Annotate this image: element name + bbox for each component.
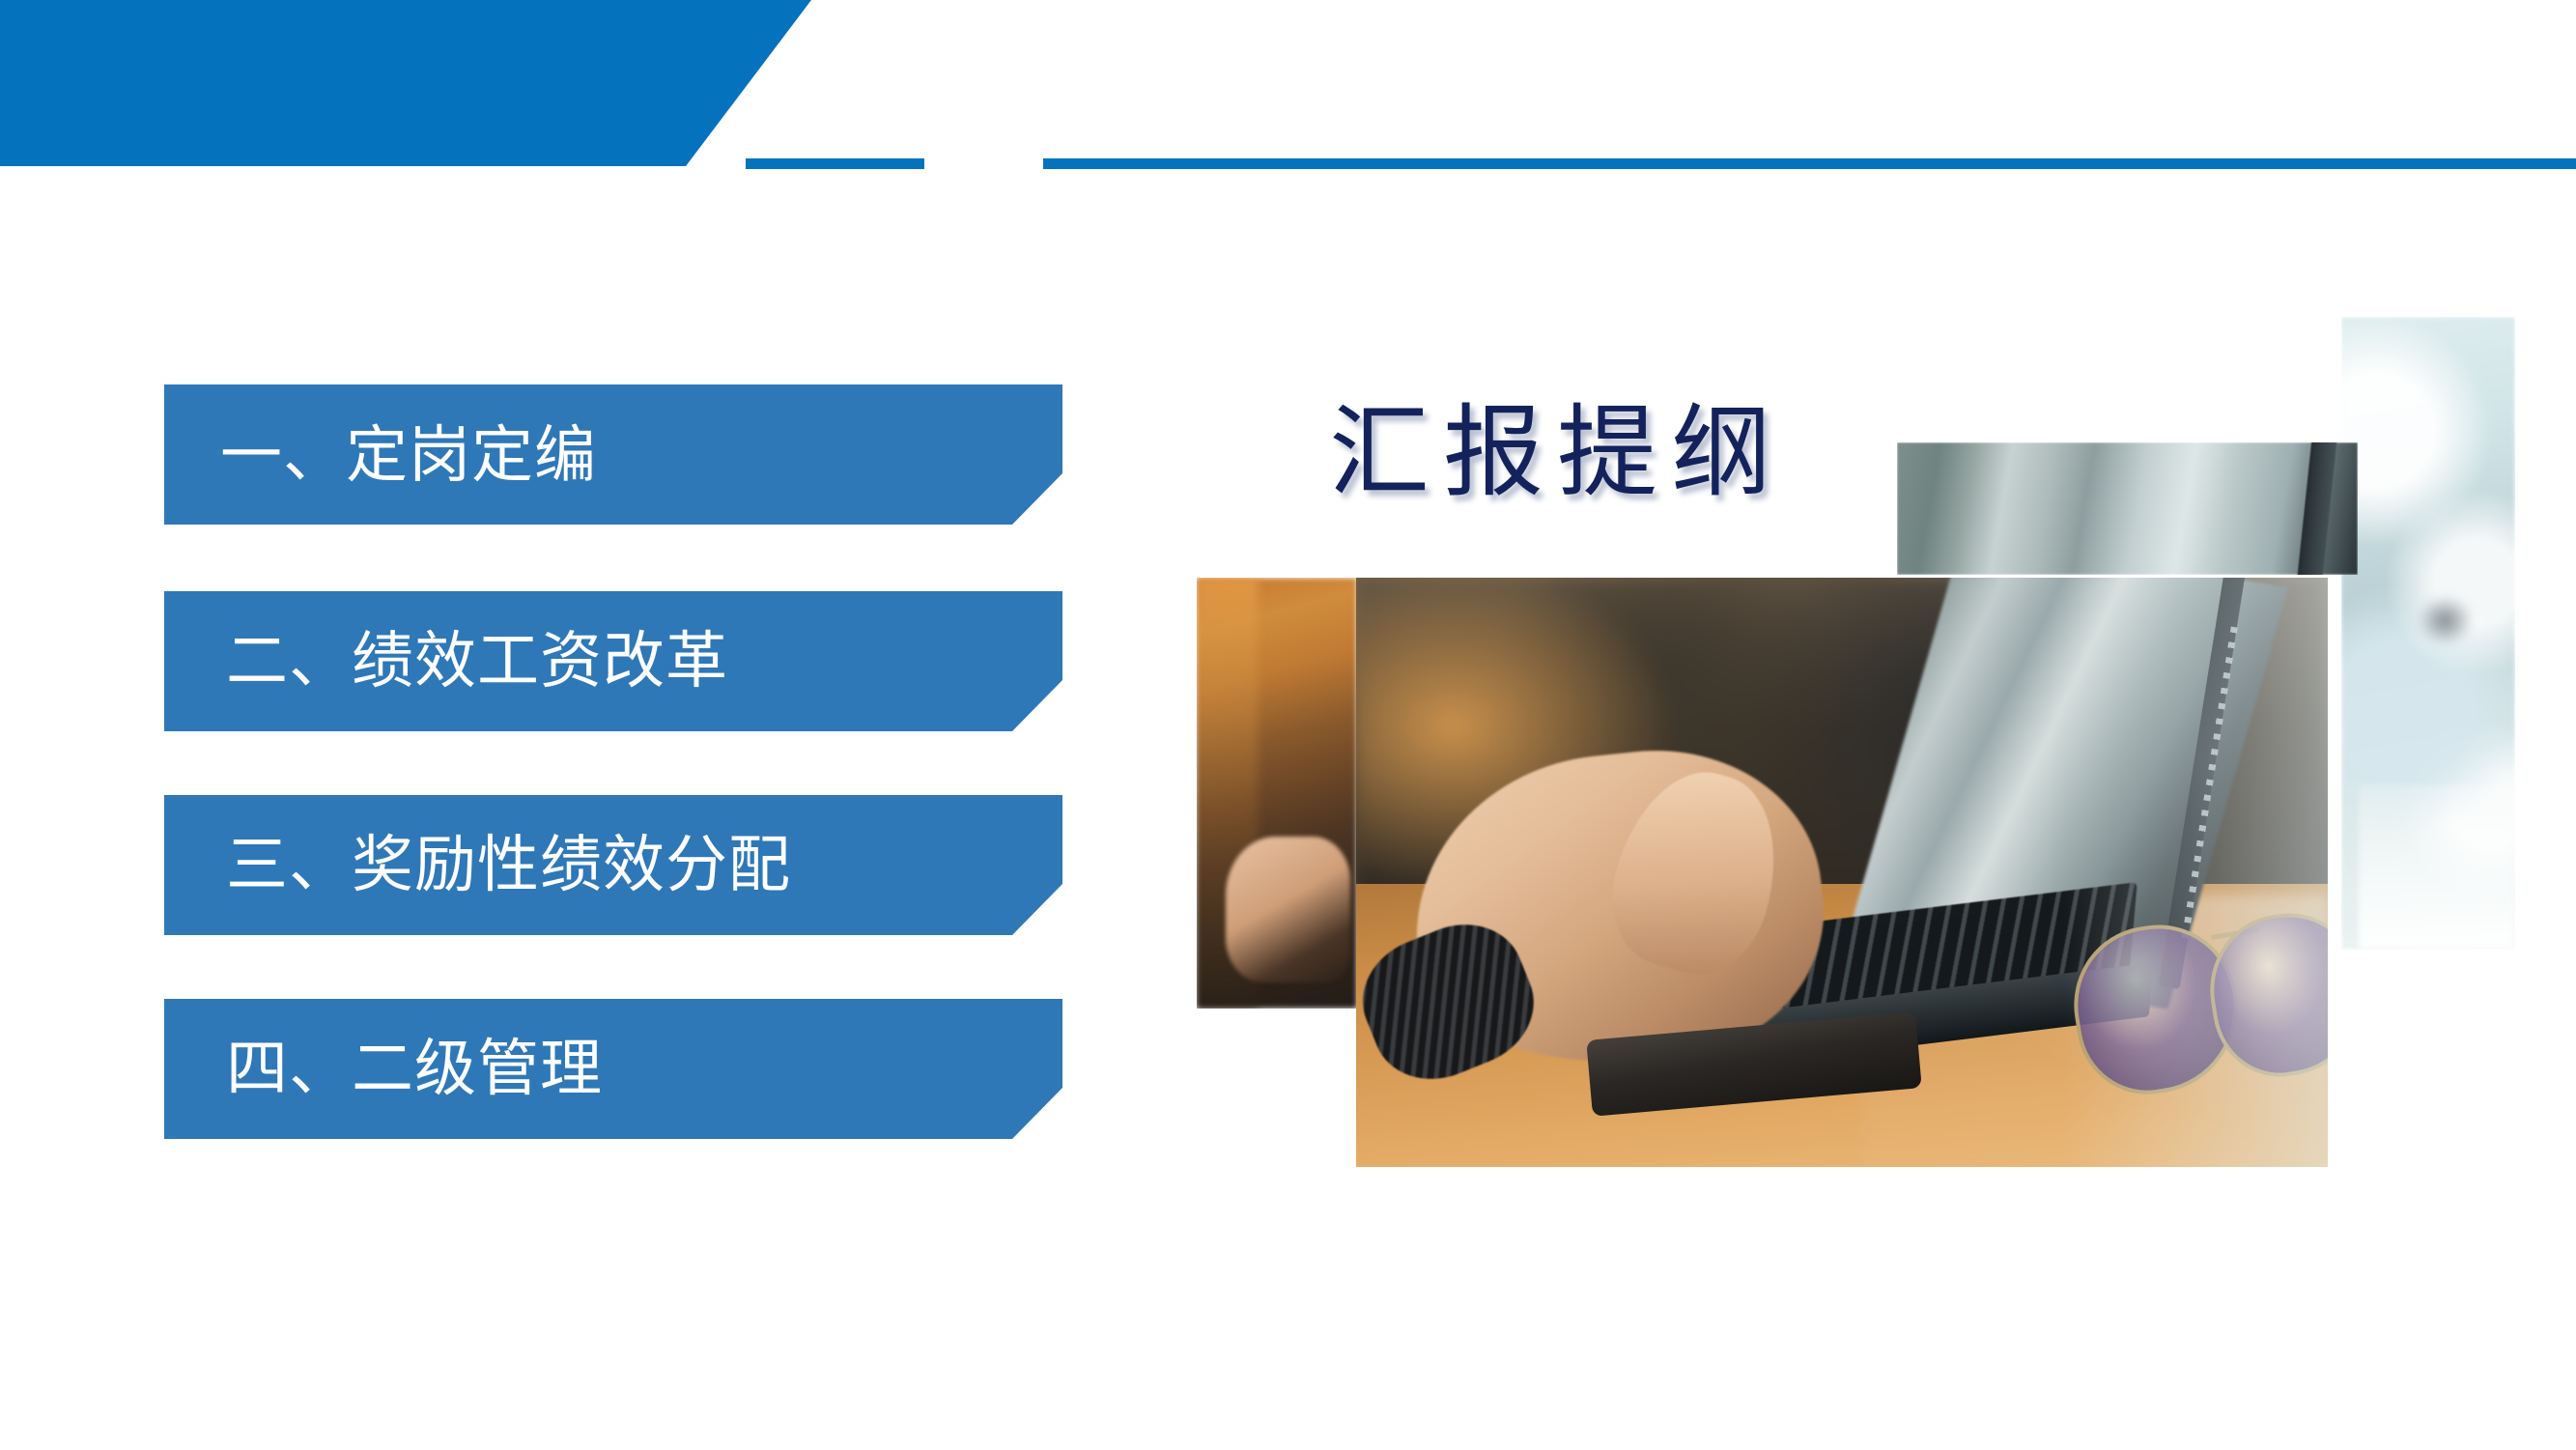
agenda-item-4-label: 四、二级管理 bbox=[212, 1038, 603, 1100]
photo-office-bokeh-strip[interactable] bbox=[2341, 317, 2515, 950]
header-blue-banner-shape bbox=[0, 0, 811, 166]
slide-root: 汇报提纲 一、定岗定编 二、绩效工资改革 三、奖励性绩效分配 四、二级管理 bbox=[0, 0, 2576, 1450]
photo-laptop-screen-panel-image bbox=[1897, 442, 2358, 575]
agenda-item-1[interactable]: 一、定岗定编 bbox=[164, 384, 1062, 527]
agenda-item-3[interactable]: 三、奖励性绩效分配 bbox=[164, 795, 1062, 935]
wrist-shape bbox=[1226, 837, 1350, 983]
bokeh-glass-bottom bbox=[2359, 785, 2515, 950]
photo-laptop-screen-panel[interactable] bbox=[1897, 442, 2358, 575]
photo-warm-background-strip[interactable] bbox=[1197, 578, 1357, 1009]
header-rule-short bbox=[746, 158, 924, 169]
agenda-item-1-label: 一、定岗定编 bbox=[212, 425, 597, 487]
header-rule-long bbox=[1043, 158, 2576, 169]
page-title: 汇报提纲 bbox=[1329, 402, 1785, 502]
photo-right-haze bbox=[1997, 578, 2328, 1167]
bokeh-dark-blob bbox=[2418, 595, 2474, 645]
agenda-item-4[interactable]: 四、二级管理 bbox=[164, 999, 1062, 1139]
agenda-list: 一、定岗定编 二、绩效工资改革 三、奖励性绩效分配 四、二级管理 bbox=[164, 384, 1062, 1139]
agenda-item-2[interactable]: 二、绩效工资改革 bbox=[164, 591, 1062, 731]
agenda-item-2-label: 二、绩效工资改革 bbox=[212, 631, 728, 693]
agenda-item-3-label: 三、奖励性绩效分配 bbox=[212, 835, 791, 896]
photo-hands-typing-laptop[interactable] bbox=[1356, 578, 2328, 1167]
